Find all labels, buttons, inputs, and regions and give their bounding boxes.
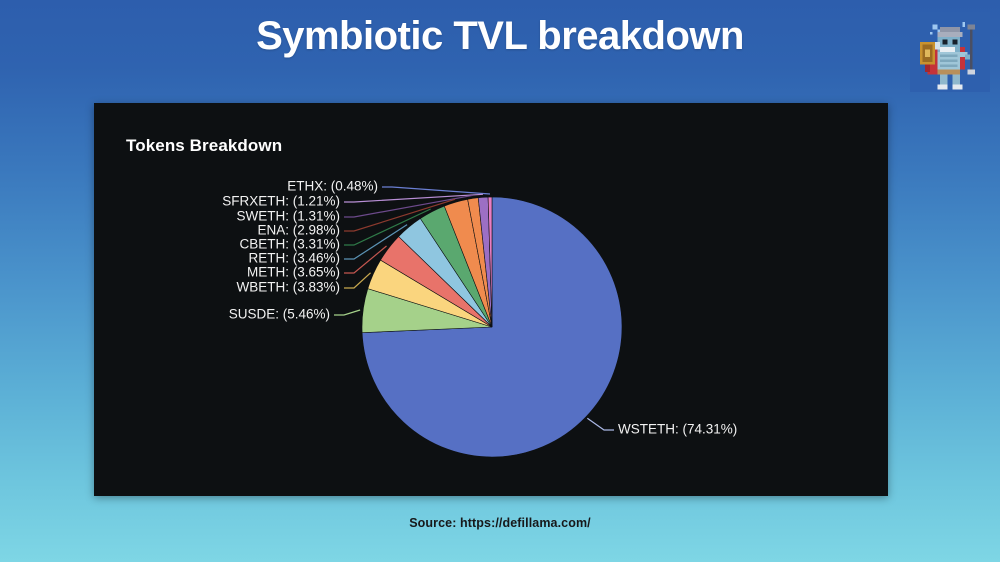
pie-label-sfrxeth: SFRXETH: (1.21%) — [222, 194, 340, 209]
chart-panel: Tokens Breakdown ETHX: (0.48%)SFRXETH: (… — [94, 103, 888, 496]
leader-line-wbeth — [344, 273, 371, 288]
pie-label-meth: METH: (3.65%) — [247, 265, 340, 280]
pie-label-ena: ENA: (2.98%) — [257, 223, 340, 238]
leader-line-wsteth — [587, 418, 614, 430]
pie-slice-group — [362, 197, 622, 457]
pie-label-cbeth: CBETH: (3.31%) — [239, 237, 340, 252]
pie-label-susde: SUSDE: (5.46%) — [229, 307, 330, 322]
source-caption: Source: https://defillama.com/ — [0, 516, 1000, 530]
leader-line-susde — [334, 310, 360, 315]
leader-line-ethx — [382, 187, 490, 194]
pie-label-reth: RETH: (3.46%) — [248, 251, 340, 266]
page-title: Symbiotic TVL breakdown — [0, 14, 1000, 59]
pie-chart-svg: ETHX: (0.48%)SFRXETH: (1.21%)SWETH: (1.3… — [94, 103, 888, 496]
pie-chart: ETHX: (0.48%)SFRXETH: (1.21%)SWETH: (1.3… — [94, 103, 888, 496]
pie-label-wbeth: WBETH: (3.83%) — [236, 280, 340, 295]
pie-label-sweth: SWETH: (1.31%) — [236, 209, 340, 224]
pie-label-ethx: ETHX: (0.48%) — [287, 179, 378, 194]
pixel-warrior-avatar-icon — [910, 12, 990, 92]
pie-label-wsteth: WSTETH: (74.31%) — [618, 422, 737, 437]
